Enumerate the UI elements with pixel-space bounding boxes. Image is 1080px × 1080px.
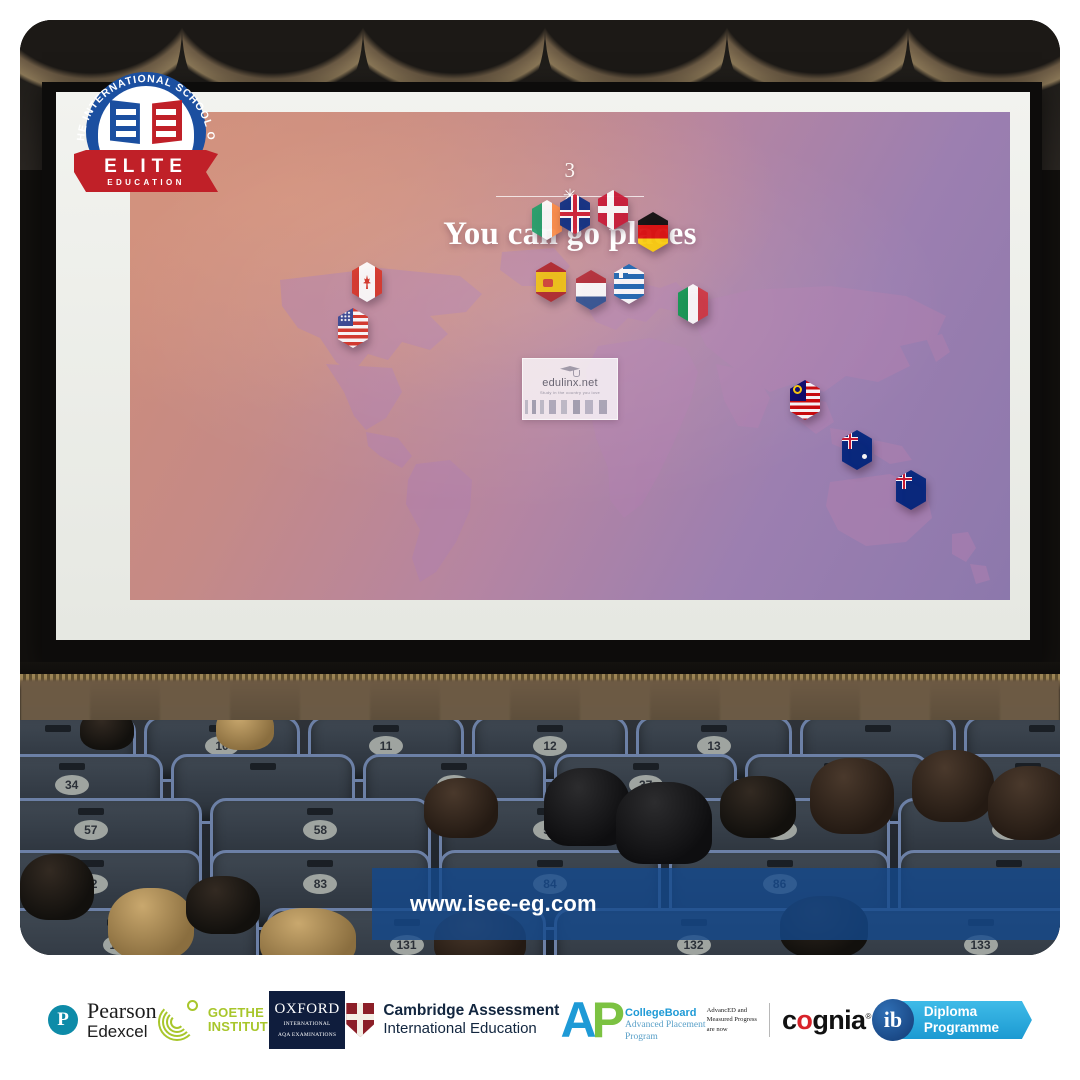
seat-number: 58 [303, 820, 337, 840]
cognia-divider [769, 1003, 770, 1037]
map-pin-spain [536, 262, 566, 302]
pearson-line1: Pearson [87, 999, 157, 1023]
cognia-wordmark: cognia® [782, 1005, 871, 1036]
audience-member [720, 776, 796, 838]
logo-tagline: EDUCATION [74, 178, 218, 187]
audience-member [616, 782, 712, 864]
seat-number: 12 [533, 736, 567, 756]
map-pin-netherlands [576, 270, 606, 310]
ap-letter-p: P [592, 992, 620, 1048]
event-photo: 3 ✳ You can go places [20, 20, 1060, 955]
oxford-line1: OXFORD [274, 1001, 339, 1018]
oxford-line3: AQA EXAMINATIONS [278, 1032, 336, 1039]
map-pin-ireland [532, 200, 562, 240]
audience-member [80, 720, 134, 750]
pearson-mark-icon: P [48, 1005, 78, 1035]
ap-mark-icon: AP [561, 997, 620, 1043]
map-pin-denmark [598, 190, 628, 230]
cognia-pre3: are now [707, 1025, 757, 1035]
accreditation-footer: P Pearson Edexcel GOETHE INSTITUT OXFORD… [0, 960, 1080, 1080]
audience-member [424, 778, 498, 838]
cambridge-shield-icon [346, 1003, 374, 1037]
seat-number: 34 [55, 775, 89, 795]
cambridge-line2: International Education [383, 1020, 559, 1038]
logo-cognia: AdvancED and Measured Progress are now c… [707, 1003, 871, 1037]
presentation-slide: 3 ✳ You can go places [130, 112, 1010, 600]
website-url: www.isee-eg.com [410, 891, 597, 917]
map-pin-canada [352, 262, 382, 302]
cognia-o: o [796, 1005, 812, 1035]
seat-number: 57 [74, 820, 108, 840]
audience-member [216, 720, 274, 750]
school-logo: THE INTERNATIONAL SCHOOL OF ELITE EDUCAT… [72, 64, 220, 202]
logo-name: ELITE [74, 156, 218, 178]
cognia-tm: ® [865, 1012, 870, 1021]
map-pin-italy [678, 284, 708, 324]
map-pin-united-states [338, 308, 368, 348]
logo-ribbon: ELITE EDUCATION [74, 150, 218, 196]
audience-member [186, 876, 260, 934]
oxford-line2: INTERNATIONAL [284, 1021, 331, 1028]
cognia-rest: gnia [812, 1005, 865, 1035]
watermark-subtitle: Study in the country you love [523, 390, 617, 395]
open-book-icon [110, 100, 182, 152]
slide-watermark: edulinx.net Study in the country you lov… [522, 358, 618, 420]
watermark-name: edulinx.net [523, 377, 617, 389]
map-pin-australia [842, 430, 872, 470]
logo-cambridge-assessment: Cambridge Assessment International Educa… [346, 1002, 559, 1038]
cognia-pre1: AdvancED and [707, 1006, 757, 1016]
collegeboard-line2: Advanced Placement [625, 1020, 705, 1032]
pearson-line2: Edexcel [87, 1023, 157, 1041]
seat-number: 11 [369, 736, 403, 756]
map-pin-greece [614, 264, 644, 304]
goethe-rings-icon [158, 999, 200, 1041]
map-pin-germany [638, 212, 668, 252]
seat-number: 83 [303, 874, 337, 894]
cognia-c: c [782, 1005, 796, 1035]
logo-pearson-edexcel: P Pearson Edexcel [48, 999, 157, 1041]
goethe-line2: INSTITUT [208, 1020, 268, 1034]
logo-oxford-aqa: OXFORD INTERNATIONAL AQA EXAMINATIONS [269, 991, 345, 1049]
audience-member [912, 750, 994, 822]
social-post-card: 3 ✳ You can go places [0, 0, 1080, 1080]
map-pin-united-kingdom [560, 194, 590, 234]
logo-ib-diploma: ib Diploma Programme [872, 997, 1032, 1043]
logo-ap-college-board: AP CollegeBoard Advanced Placement Progr… [561, 997, 706, 1044]
audience-member [108, 888, 194, 955]
map-pin-malaysia [790, 380, 820, 420]
cognia-pre2: Measured Progress [707, 1015, 757, 1025]
collegeboard-line1: CollegeBoard [625, 1007, 705, 1020]
audience-member [260, 908, 356, 955]
logo-goethe-institut: GOETHE INSTITUT [158, 999, 268, 1041]
watermark-skyline-icon [523, 398, 617, 414]
audience-member [988, 766, 1060, 840]
cambridge-line1: Cambridge Assessment [383, 1002, 559, 1020]
collegeboard-line3: Program [625, 1032, 705, 1044]
ib-line1: Diploma [924, 1004, 999, 1020]
graduation-cap-icon [560, 364, 580, 376]
ib-line2: Programme [924, 1020, 999, 1036]
map-pin-new-zealand [896, 470, 926, 510]
audience-member [810, 758, 894, 834]
slide-number: 3 [130, 158, 1010, 183]
goethe-line1: GOETHE [208, 1006, 268, 1020]
audience-member [20, 854, 94, 920]
seat-number: 13 [697, 736, 731, 756]
website-banner[interactable]: www.isee-eg.com [372, 868, 1060, 940]
ib-mark-icon: ib [872, 999, 914, 1041]
ap-letter-a: A [561, 992, 592, 1048]
